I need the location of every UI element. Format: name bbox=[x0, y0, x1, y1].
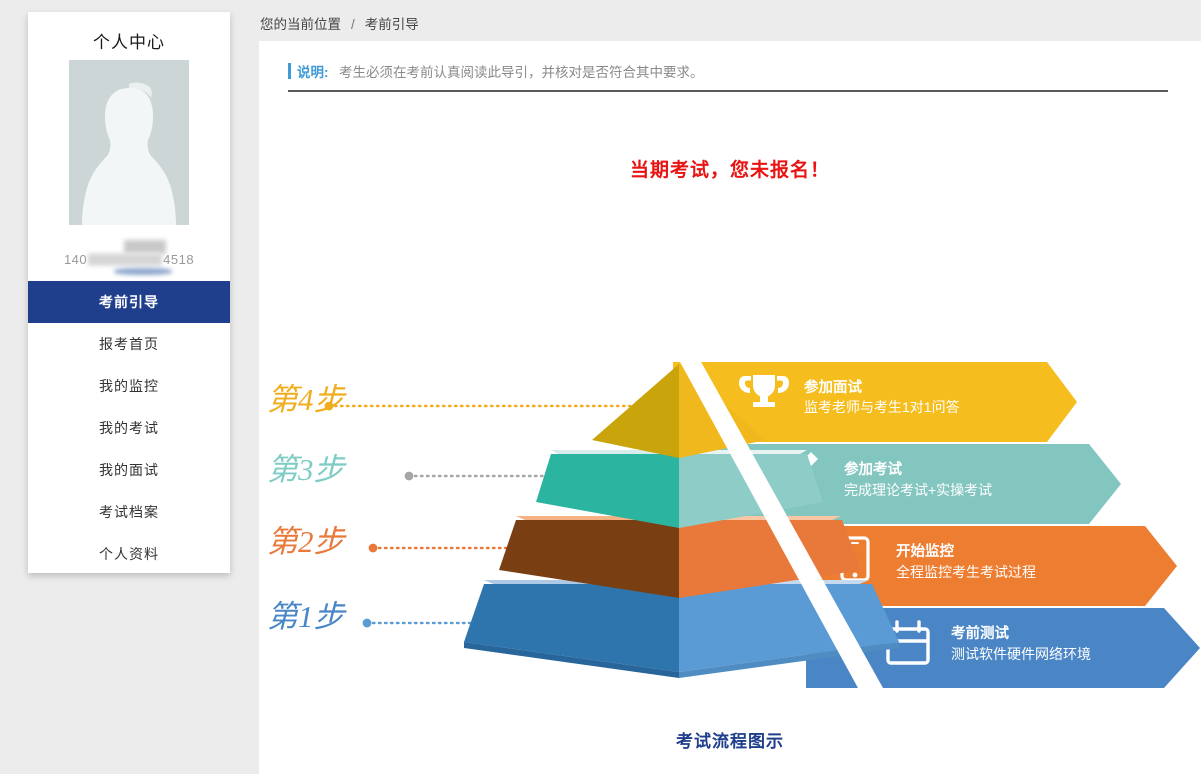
banner-title: 考前测试 bbox=[951, 624, 1009, 642]
personal-center-card: 个人中心 1404518 考前引导 报考首页 bbox=[28, 12, 230, 573]
user-id-prefix: 140 bbox=[64, 252, 87, 267]
notice-accent-bar bbox=[288, 63, 291, 79]
sidebar-item-pre-exam-guide[interactable]: 考前引导 bbox=[28, 281, 230, 323]
sidebar-item-my-interviews[interactable]: 我的面试 bbox=[28, 449, 230, 491]
sidebar-item-label: 我的面试 bbox=[99, 462, 159, 478]
figure-caption: 考试流程图示 bbox=[259, 727, 1201, 752]
step-connector-4 bbox=[325, 402, 646, 411]
banner-subtitle: 测试软件硬件网络环境 bbox=[951, 646, 1091, 662]
page-root: 个人中心 1404518 考前引导 报考首页 bbox=[0, 0, 1201, 774]
step-label-1: 第1步 bbox=[267, 591, 345, 636]
step-label-3: 第3步 bbox=[267, 444, 345, 489]
sidebar-item-my-monitoring[interactable]: 我的监控 bbox=[28, 365, 230, 407]
breadcrumb-prefix: 您的当前位置 bbox=[260, 17, 341, 32]
sidebar-item-registration-home[interactable]: 报考首页 bbox=[28, 323, 230, 365]
sidebar-item-label: 个人资料 bbox=[99, 546, 159, 562]
sidebar-nav: 考前引导 报考首页 我的监控 我的考试 我的面试 考试档案 个人 bbox=[28, 281, 230, 575]
exam-process-figure: 参加面试 监考老师与考生1对1问答 参加考试 完成理论考试+实操考试 bbox=[259, 352, 1201, 752]
notice-divider bbox=[288, 90, 1168, 92]
banner-subtitle: 全程监控考生考试过程 bbox=[896, 564, 1036, 580]
breadcrumb-bar: 您的当前位置/考前引导 bbox=[259, 0, 1201, 41]
sidebar-item-exam-records[interactable]: 考试档案 bbox=[28, 491, 230, 533]
main-content: 您的当前位置/考前引导 说明: 考生必须在考前认真阅读此导引，并核对是否符合其中… bbox=[259, 0, 1201, 774]
notice-label: 说明: bbox=[297, 61, 329, 81]
user-id-redacted bbox=[88, 253, 162, 266]
user-silhouette-avatar-icon bbox=[69, 60, 189, 225]
user-id-line: 1404518 bbox=[28, 252, 230, 267]
avatar bbox=[69, 60, 189, 225]
id-redaction-blob-bottom bbox=[114, 268, 172, 275]
banner-subtitle: 监考老师与考生1对1问答 bbox=[804, 399, 960, 415]
notice-bar: 说明: 考生必须在考前认真阅读此导引，并核对是否符合其中要求。 bbox=[288, 60, 1168, 86]
banner-subtitle: 完成理论考试+实操考试 bbox=[844, 482, 992, 498]
step-label-4: 第4步 bbox=[267, 374, 345, 419]
registration-alert: 当期考试，您未报名！ bbox=[259, 155, 1201, 182]
left-column: 个人中心 1404518 考前引导 报考首页 bbox=[0, 0, 259, 774]
sidebar-title: 个人中心 bbox=[28, 12, 230, 53]
banner-title: 参加考试 bbox=[844, 460, 902, 478]
sidebar-item-label: 考试档案 bbox=[99, 504, 159, 520]
step-label-2: 第2步 bbox=[267, 516, 345, 561]
breadcrumb-current: 考前引导 bbox=[365, 17, 419, 32]
sidebar-item-label: 我的监控 bbox=[99, 378, 159, 394]
sidebar-item-label: 我的考试 bbox=[99, 420, 159, 436]
banner-title: 参加面试 bbox=[804, 378, 862, 396]
notice-text: 考生必须在考前认真阅读此导引，并核对是否符合其中要求。 bbox=[339, 61, 704, 81]
banner-title: 开始监控 bbox=[896, 542, 954, 560]
breadcrumb: 您的当前位置/考前引导 bbox=[260, 13, 419, 33]
sidebar-item-label: 考前引导 bbox=[99, 294, 159, 310]
sidebar-item-my-exams[interactable]: 我的考试 bbox=[28, 407, 230, 449]
pyramid-diagram: 参加面试 监考老师与考生1对1问答 参加考试 完成理论考试+实操考试 bbox=[259, 352, 1201, 752]
sidebar-item-label: 报考首页 bbox=[99, 336, 159, 352]
breadcrumb-separator: / bbox=[351, 17, 355, 32]
sidebar-item-personal-info[interactable]: 个人资料 bbox=[28, 533, 230, 575]
user-id-suffix: 4518 bbox=[163, 252, 194, 267]
